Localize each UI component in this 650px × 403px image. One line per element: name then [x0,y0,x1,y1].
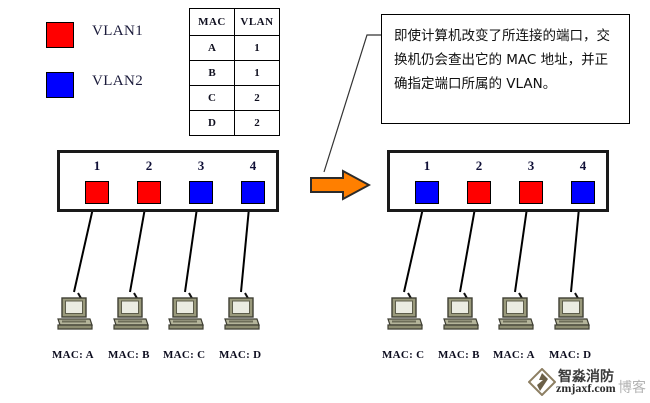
mac-vlan-table: MAC VLAN A 1 B 1 C 2 D 2 [189,8,280,136]
table-row: D 2 [190,111,280,136]
port-indicator-2[interactable] [137,181,161,204]
cable-left-4 [241,208,249,292]
port-number-3: 3 [519,158,543,174]
cell-mac: D [190,111,235,136]
computer-icon [112,291,150,333]
port-indicator-3[interactable] [519,181,543,204]
computer-icon [386,291,424,333]
watermark-url: zmjaxf.com [556,381,616,396]
diagram-canvas: VLAN1 VLAN2 MAC VLAN A 1 B 1 C 2 D 2 即使计… [0,0,650,403]
port-indicator-2[interactable] [467,181,491,204]
port-number-4: 4 [241,158,265,174]
computer-icon [56,291,94,333]
computer-icon [167,291,205,333]
port-indicator-4[interactable] [241,181,265,204]
port-indicator-4[interactable] [571,181,595,204]
table-header-vlan: VLAN [235,9,280,36]
host-label-left-3: MAC: C [163,349,205,361]
legend-swatch-vlan1 [46,22,74,48]
computer-icon [442,291,480,333]
port-number-1: 1 [85,158,109,174]
host-label-right-4: MAC: D [549,349,591,361]
callout-leader-line [324,35,381,172]
cable-right-4 [571,208,579,292]
callout-text: 即使计算机改变了所连接的端口，交换机仍会查出它的 MAC 地址，并正确指定端口所… [394,24,619,96]
port-indicator-1[interactable] [85,181,109,204]
cell-vlan: 1 [235,61,280,86]
host-label-right-2: MAC: B [438,349,480,361]
cell-vlan: 1 [235,36,280,61]
legend-swatch-vlan2 [46,72,74,98]
watermark-logo-icon [528,368,556,396]
computer-icon [553,291,591,333]
callout-box: 即使计算机改变了所连接的端口，交换机仍会查出它的 MAC 地址，并正确指定端口所… [381,14,630,124]
switch-right[interactable]: 1 2 3 4 [387,150,609,212]
port-indicator-1[interactable] [415,181,439,204]
cable-left-1 [74,208,93,292]
port-number-2: 2 [467,158,491,174]
cell-mac: C [190,86,235,111]
cable-right-2 [460,208,475,292]
cell-mac: A [190,36,235,61]
port-number-2: 2 [137,158,161,174]
host-label-right-3: MAC: A [493,349,535,361]
computer-icon [497,291,535,333]
watermark: 智淼消防 zmjaxf.com 博客 [528,367,646,399]
table-row: A 1 [190,36,280,61]
cell-vlan: 2 [235,111,280,136]
legend-label-vlan2: VLAN2 [92,73,143,90]
cell-mac: B [190,61,235,86]
transition-arrow-icon [309,169,371,201]
port-number-4: 4 [571,158,595,174]
cable-left-3 [185,208,197,292]
port-number-1: 1 [415,158,439,174]
cable-right-3 [515,208,527,292]
watermark-suffix: 博客 [618,377,646,397]
cable-left-2 [130,208,145,292]
host-label-left-4: MAC: D [219,349,261,361]
table-row: C 2 [190,86,280,111]
host-label-right-1: MAC: C [382,349,424,361]
port-indicator-3[interactable] [189,181,213,204]
table-header-row: MAC VLAN [190,9,280,36]
table-row: B 1 [190,61,280,86]
host-label-left-1: MAC: A [52,349,94,361]
port-number-3: 3 [189,158,213,174]
computer-icon [223,291,261,333]
cable-right-1 [404,208,423,292]
table-header-mac: MAC [190,9,235,36]
legend-label-vlan1: VLAN1 [92,23,143,40]
switch-left[interactable]: 1 2 3 4 [57,150,279,212]
host-label-left-2: MAC: B [108,349,150,361]
cell-vlan: 2 [235,86,280,111]
